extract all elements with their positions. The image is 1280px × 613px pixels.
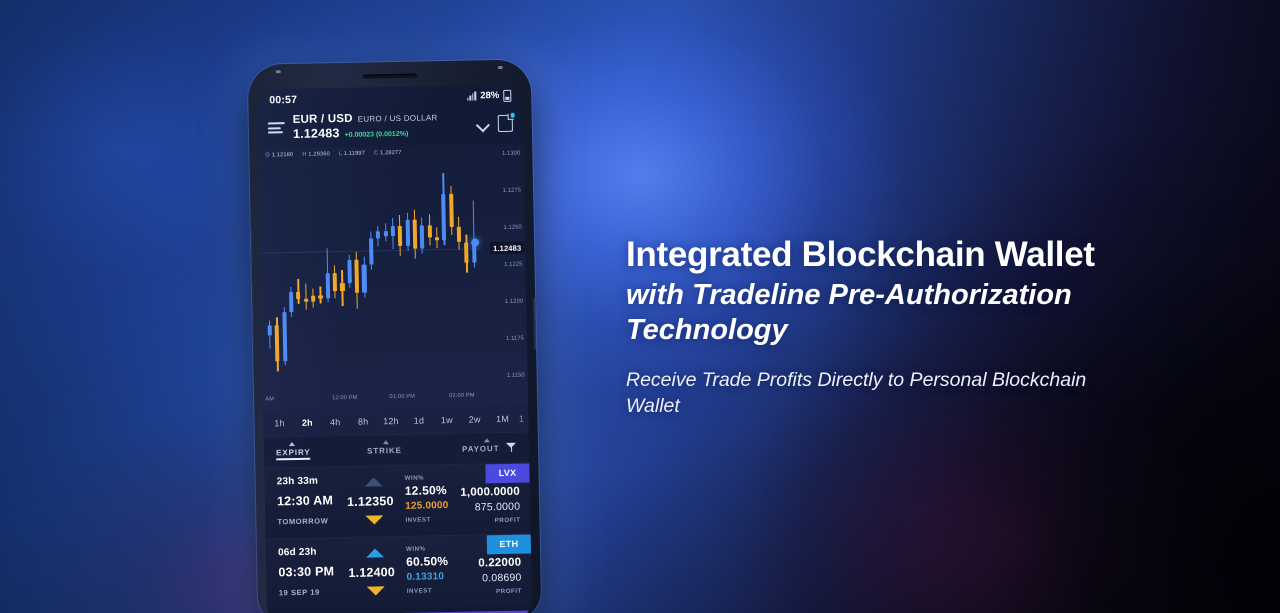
status-time: 00:57 — [269, 93, 297, 106]
trade-countdown: 06d 23h — [278, 546, 334, 558]
presentation-slide: Integrated Blockchain Wallet with Tradel… — [0, 0, 1280, 613]
trade-expiry: 23h 33m12:30 AMTOMORROW — [277, 475, 334, 526]
status-badge[interactable]: LVX — [485, 464, 529, 484]
ohlc-o: O 1.12180 — [265, 152, 293, 159]
candle-body — [441, 194, 446, 240]
timeframe-1h[interactable]: 1h — [265, 418, 293, 429]
candlestick-series — [265, 162, 482, 384]
ohlc-readout: O 1.12180H 1.29360L 1.11997C 1.28277 — [265, 150, 401, 159]
ohlc-h: H 1.29360 — [302, 151, 330, 158]
phone-bezel-marker-right — [498, 66, 503, 69]
time-tick: AM — [265, 396, 274, 402]
trade-invest: 0.13310 — [406, 571, 448, 583]
ohlc-c: C 1.28277 — [374, 150, 402, 157]
column-expiry[interactable]: EXPIRY — [276, 447, 311, 457]
trade-invest-label: INVEST — [407, 587, 449, 595]
battery-icon — [503, 89, 511, 101]
trade-payout: 0.22000 — [478, 557, 521, 570]
timeframe-1M[interactable]: 1M — [489, 414, 517, 425]
current-price-marker — [471, 238, 479, 246]
price-tick: 1.1225 — [504, 262, 522, 268]
phone-screen: 00:57 28% EUR / USD EURO — [257, 85, 532, 613]
time-tick: 01:00 PM — [389, 394, 415, 400]
candle-body — [289, 292, 294, 313]
trade-win-label: WIN% — [406, 545, 448, 553]
candle-body — [296, 292, 300, 300]
triangle-down-icon[interactable] — [367, 586, 385, 595]
time-axis: AM12:00 PM01:00 PM02:00 PM — [263, 392, 484, 406]
time-tick: 12:00 PM — [332, 395, 358, 401]
column-expiry-caret-icon — [289, 442, 295, 446]
instrument-price: 1.12483 — [293, 126, 340, 141]
status-indicators: 28% — [467, 89, 512, 102]
trade-payout-block: 0.220000.08690PROFIT — [478, 557, 522, 596]
timeframe-2h[interactable]: 2h — [293, 417, 321, 428]
trade-win-pct: 12.50% — [405, 483, 449, 498]
trade-strike: 1.12350 — [347, 494, 394, 509]
trade-win-block: WIN%60.50%0.13310INVEST — [406, 545, 449, 595]
headline-title: Integrated Blockchain Wallet — [626, 236, 1246, 273]
trade-date: TOMORROW — [277, 516, 333, 526]
triangle-up-icon[interactable] — [366, 548, 384, 557]
candle-body — [347, 260, 352, 283]
candle-body — [376, 231, 380, 239]
trade-profit: 875.0000 — [461, 501, 521, 514]
candle-body — [340, 283, 344, 291]
candle-body — [398, 225, 403, 246]
ohlc-l: L 1.11997 — [339, 151, 365, 157]
status-badge[interactable]: ETH — [487, 534, 531, 554]
instrument-change: +0.00023 (0.0012%) — [345, 131, 409, 139]
triangle-down-icon[interactable] — [365, 515, 383, 524]
trade-row[interactable]: 06d 23h03:30 PM19 SEP 191.12400WIN%60.50… — [266, 533, 532, 609]
trade-invest-label: INVEST — [405, 516, 448, 524]
candle-body — [420, 225, 425, 248]
chevron-down-icon[interactable] — [477, 117, 490, 130]
column-strike-caret-icon — [383, 440, 389, 444]
price-tick: 1.1275 — [503, 188, 521, 194]
trade-win-label: WIN% — [405, 474, 448, 482]
phone-mockup: 00:57 28% EUR / USD EURO — [248, 59, 549, 613]
trade-profit-label: PROFIT — [479, 588, 522, 596]
candle-body — [413, 220, 418, 248]
candle-body — [457, 227, 461, 242]
trade-win-pct: 60.50% — [406, 554, 448, 569]
candle-body — [383, 231, 387, 236]
timeframe-2w[interactable]: 2w — [461, 414, 489, 425]
trade-time: 03:30 PM — [278, 564, 334, 579]
phone-bezel-marker-left — [276, 70, 281, 73]
current-price-tag: 1.12483 — [490, 242, 524, 255]
trade-profit: 0.08690 — [478, 572, 521, 585]
headline-block: Integrated Blockchain Wallet with Tradel… — [626, 236, 1246, 419]
column-payout[interactable]: PAYOUT — [462, 444, 500, 454]
candle — [470, 163, 478, 381]
trade-invest: 125.0000 — [405, 500, 449, 512]
phone-speaker — [362, 74, 416, 79]
timeframe-8h[interactable]: 8h — [349, 416, 377, 427]
headline-description: Receive Trade Profits Directly to Person… — [626, 367, 1096, 420]
trade-expiry: 06d 23h03:30 PM19 SEP 19 — [278, 546, 335, 597]
filter-funnel-icon[interactable] — [506, 442, 517, 453]
price-tick: 1.1175 — [506, 336, 524, 342]
candle-body — [362, 265, 367, 293]
battery-percent: 28% — [480, 90, 499, 101]
candle-body — [325, 273, 330, 299]
trade-strike: 1.12400 — [348, 565, 395, 580]
document-icon[interactable] — [498, 115, 513, 132]
trade-row[interactable]: 23h 33m12:30 AMTOMORROW1.12350WIN%12.50%… — [264, 463, 530, 539]
price-tick: 1.1200 — [505, 299, 523, 305]
notification-dot — [510, 113, 515, 118]
timeframe-1w[interactable]: 1w — [433, 415, 461, 426]
candle-body — [311, 295, 315, 301]
price-tick: 1.1250 — [503, 225, 521, 231]
timeframe-1d[interactable]: 1d — [405, 415, 433, 426]
column-payout-caret-icon — [484, 438, 490, 442]
candle-body — [391, 226, 395, 236]
timeframe-overflow[interactable]: 1 — [516, 414, 526, 424]
candle-body — [275, 325, 280, 361]
price-chart[interactable]: O 1.12180H 1.29360L 1.11997C 1.28277 AM1… — [258, 144, 528, 411]
hamburger-menu-icon[interactable] — [268, 122, 285, 133]
price-tick: 1.1150 — [507, 373, 525, 379]
time-tick: 02:00 PM — [449, 393, 475, 399]
candle-body — [427, 225, 431, 238]
headline-subtitle: with Tradeline Pre-Authorization Technol… — [626, 278, 1156, 349]
phone-body: 00:57 28% EUR / USD EURO — [248, 59, 542, 613]
candle-body — [318, 295, 322, 299]
candle-body — [464, 242, 469, 263]
candle-body — [268, 325, 272, 335]
timeframe-12h[interactable]: 12h — [377, 416, 405, 427]
trade-payout: 1,000.0000 — [460, 486, 520, 499]
candle-body — [435, 238, 439, 241]
instrument-pair: EUR / USD — [293, 113, 353, 126]
candle-body — [333, 273, 337, 291]
instrument-header: EUR / USD EURO / US DOLLAR 1.12483 +0.00… — [258, 106, 524, 149]
price-axis: 1.13001.12751.12501.12251.12001.11751.11… — [479, 144, 528, 407]
price-tick: 1.1300 — [502, 151, 520, 157]
instrument-fullname: EURO / US DOLLAR — [358, 113, 438, 124]
trade-columns-header: EXPIRY STRIKE PAYOUT — [264, 432, 530, 468]
instrument-info[interactable]: EUR / USD EURO / US DOLLAR 1.12483 +0.00… — [293, 111, 469, 141]
trade-payout-block: 1,000.0000875.0000PROFIT — [460, 486, 520, 525]
signal-bars-icon — [467, 91, 477, 100]
candle-body — [304, 299, 308, 302]
candle-body — [282, 312, 287, 361]
triangle-up-icon[interactable] — [365, 477, 383, 486]
trade-list: 23h 33m12:30 AMTOMORROW1.12350WIN%12.50%… — [264, 463, 532, 610]
candle-body — [405, 220, 410, 246]
timeframe-4h[interactable]: 4h — [321, 417, 349, 428]
candle-wick — [305, 284, 307, 310]
candle-body — [355, 260, 360, 293]
instrument-price-row: 1.12483 +0.00023 (0.0012%) — [293, 124, 469, 141]
trade-countdown: 23h 33m — [277, 475, 333, 487]
trade-profit-label: PROFIT — [461, 517, 521, 525]
trade-win-block: WIN%12.50%125.0000INVEST — [405, 474, 449, 524]
trade-date: 19 SEP 19 — [279, 587, 335, 597]
column-strike[interactable]: STRIKE — [367, 445, 402, 455]
candle-body — [449, 194, 454, 227]
trade-time: 12:30 AM — [277, 493, 333, 508]
